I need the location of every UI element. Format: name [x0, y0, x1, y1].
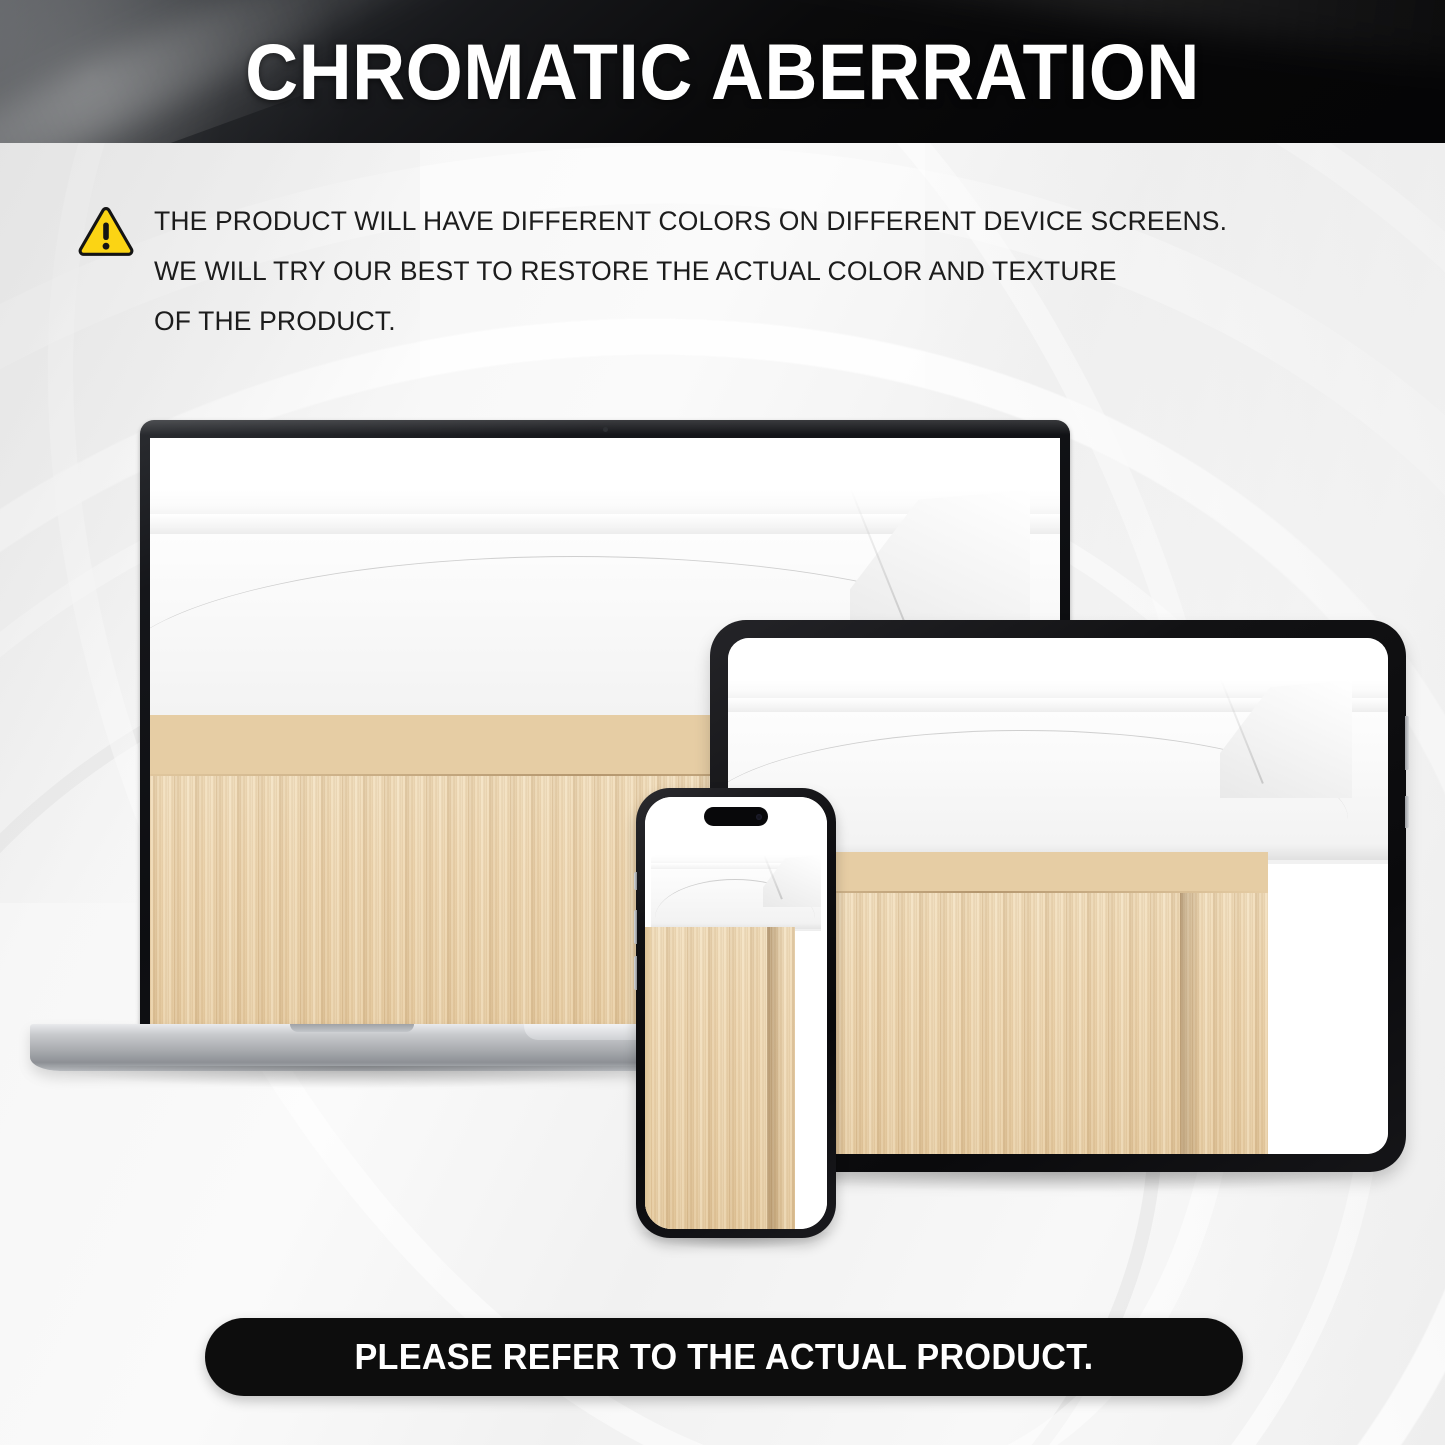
laptop-drop-shadow [40, 1066, 680, 1088]
laptop-lid-notch [290, 1024, 414, 1032]
phone-mute-switch[interactable] [634, 872, 637, 890]
refer-to-actual-product-banner[interactable]: PLEASE REFER TO THE ACTUAL PRODUCT. [205, 1318, 1243, 1396]
phone-dynamic-island [704, 807, 768, 826]
laptop-camera-icon [603, 427, 608, 432]
tablet-volume-button[interactable] [1405, 796, 1409, 828]
tablet-power-button[interactable] [1405, 716, 1409, 770]
product-photo-phone [645, 797, 827, 1229]
laptop-base [30, 1024, 674, 1071]
device-mockup-group [0, 0, 1445, 1445]
phone-body [636, 788, 836, 1238]
phone-screen [645, 797, 827, 1229]
phone-volume-up-button[interactable] [634, 910, 637, 944]
refer-to-actual-product-label: PLEASE REFER TO THE ACTUAL PRODUCT. [354, 1336, 1093, 1378]
phone-volume-down-button[interactable] [634, 956, 637, 990]
device-phone [636, 788, 836, 1238]
